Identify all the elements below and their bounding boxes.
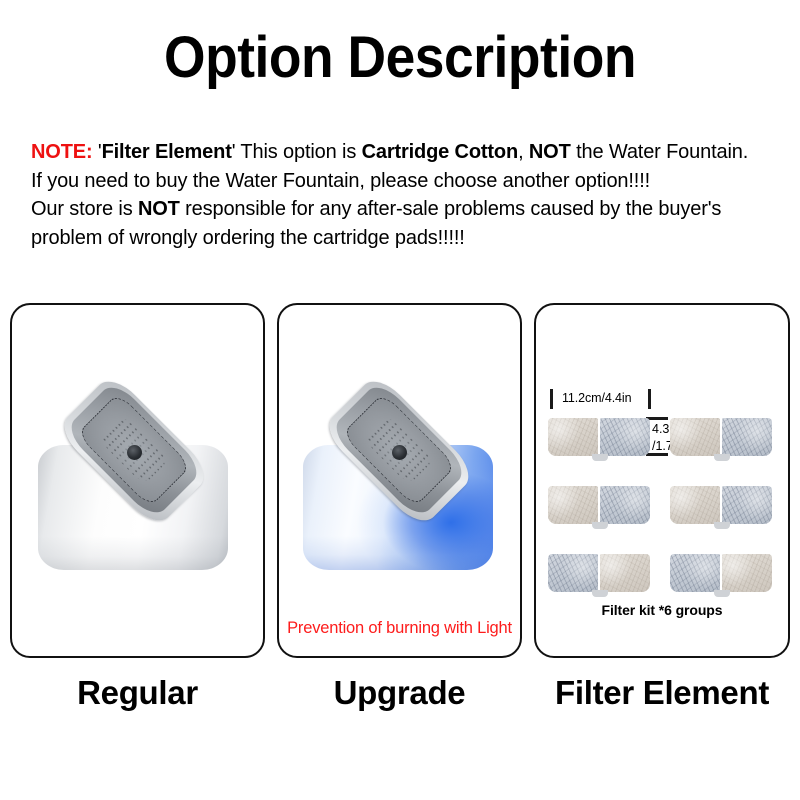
filter-tab	[592, 522, 608, 529]
note-line-1: NOTE: 'Filter Element' This option is Ca…	[31, 138, 791, 167]
filter-pad-right	[600, 418, 650, 456]
filter-tab	[714, 454, 730, 461]
filter-pad-left	[670, 486, 720, 524]
note-label: NOTE:	[31, 141, 92, 163]
option-panel-regular[interactable]	[10, 303, 265, 658]
filter-pad-left	[548, 418, 598, 456]
water-fountain-white-image	[34, 393, 234, 578]
filter-tab	[714, 590, 730, 597]
filter-tab	[592, 590, 608, 597]
fountain-lid-group	[34, 393, 234, 511]
note-mid-2: ,	[518, 141, 529, 163]
filter-kit-label: Filter kit *6 groups	[536, 602, 788, 618]
dimension-tick-right	[648, 389, 651, 409]
upgrade-panel-caption: Prevention of burning with Light	[279, 619, 520, 638]
dimension-tick-left	[550, 389, 553, 409]
water-fountain-led-image	[299, 393, 499, 578]
filter-pad-right	[722, 486, 772, 524]
note-line-4: problem of wrongly ordering the cartridg…	[31, 224, 791, 253]
filter-group	[548, 554, 652, 592]
note-emph-cartridge-cotton: Cartridge Cotton	[362, 141, 518, 163]
filter-pad-left	[670, 418, 720, 456]
filter-tab	[592, 454, 608, 461]
filter-cartridge-grid	[548, 418, 776, 598]
product-option-panels: Prevention of burning with Light 11.2cm/…	[0, 303, 800, 660]
filter-pad-right	[722, 554, 772, 592]
option-labels-row: Regular Upgrade Filter Element	[0, 673, 800, 723]
note-head-3: Our store is	[31, 198, 138, 220]
note-emph-not-1: NOT	[529, 141, 571, 163]
option-panel-filter-element[interactable]: 11.2cm/4.4in 4.3 cm /1.7in	[534, 303, 790, 658]
fountain-center-hole	[392, 445, 407, 460]
fountain-lid-group	[299, 393, 499, 511]
note-line-2: If you need to buy the Water Fountain, p…	[31, 167, 791, 196]
page-title: Option Description	[32, 26, 768, 90]
fountain-center-hole	[127, 445, 142, 460]
note-tail-3: responsible for any after-sale problems …	[180, 198, 721, 220]
note-mid-1: This option is	[235, 141, 361, 163]
filter-group	[670, 554, 774, 592]
filter-pad-right	[722, 418, 772, 456]
note-block: NOTE: 'Filter Element' This option is Ca…	[31, 138, 791, 252]
option-label-filter-element: Filter Element	[534, 673, 790, 713]
option-label-regular: Regular	[10, 673, 265, 713]
filter-group	[670, 486, 774, 524]
filter-group	[548, 418, 652, 456]
filter-group	[670, 418, 774, 456]
filter-kit-image: 11.2cm/4.4in 4.3 cm /1.7in	[536, 305, 788, 656]
filter-group	[548, 486, 652, 524]
option-panel-upgrade[interactable]: Prevention of burning with Light	[277, 303, 522, 658]
note-emph-filter-element: Filter Element	[102, 141, 232, 163]
filter-pad-right	[600, 486, 650, 524]
filter-pad-right	[600, 554, 650, 592]
filter-pad-left	[548, 486, 598, 524]
note-line-3: Our store is NOT responsible for any aft…	[31, 195, 791, 224]
filter-width-dimension-label: 11.2cm/4.4in	[562, 391, 631, 405]
note-tail-1: the Water Fountain.	[571, 141, 748, 163]
option-label-upgrade: Upgrade	[277, 673, 522, 713]
note-emph-not-2: NOT	[138, 198, 180, 220]
filter-pad-left	[670, 554, 720, 592]
filter-tab	[714, 522, 730, 529]
filter-pad-left	[548, 554, 598, 592]
